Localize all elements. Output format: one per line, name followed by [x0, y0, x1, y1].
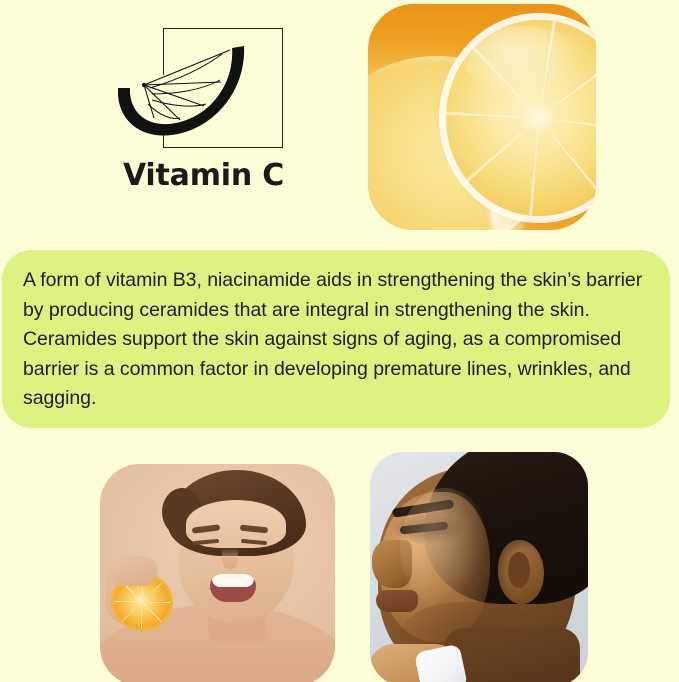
- lemon-macro-photo: [368, 4, 596, 230]
- description-text: A form of vitamin B3, niacinamide aids i…: [23, 266, 650, 414]
- woman-teeth: [212, 574, 254, 587]
- vitamin-c-logo-block: Vitamin C: [0, 0, 355, 240]
- man-lips: [376, 590, 418, 612]
- lemon-slice-icon: [118, 38, 248, 143]
- man-ear-inner: [508, 552, 530, 588]
- infographic-page: Vitamin C A form of vitamin B3, niacinam…: [0, 0, 679, 682]
- man-skin-sheen: [400, 488, 490, 608]
- description-panel: A form of vitamin B3, niacinamide aids i…: [2, 250, 670, 428]
- logo-caption: Vitamin C: [0, 158, 355, 193]
- woman-mouth: [210, 574, 256, 602]
- man-skincare-photo: [370, 452, 588, 682]
- woman-with-orange-photo: [100, 464, 335, 682]
- woman-fingers: [110, 560, 156, 586]
- woman-nose: [222, 548, 238, 570]
- lemon-highlight: [464, 26, 584, 96]
- lemon-core: [524, 103, 554, 133]
